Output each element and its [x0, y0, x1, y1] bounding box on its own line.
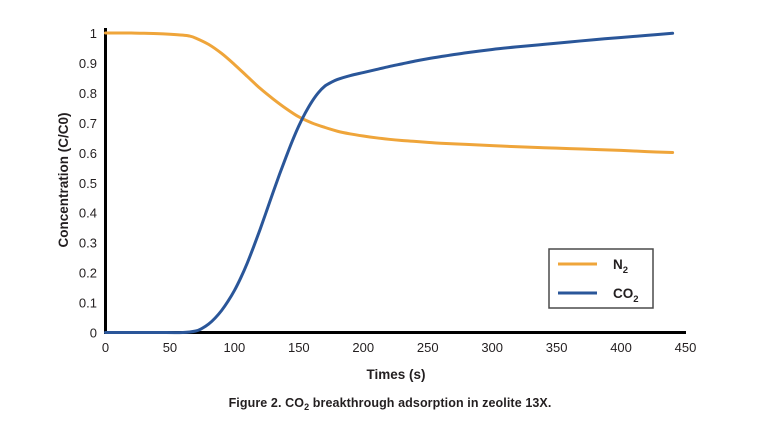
y-tick-label: 0.1	[79, 296, 97, 311]
x-tick-label: 50	[163, 340, 177, 355]
y-tick-label: 0.2	[79, 266, 97, 281]
caption-suffix: breakthrough adsorption in zeolite 13X.	[309, 396, 551, 410]
x-tick-label: 450	[675, 340, 697, 355]
caption-subscript: 2	[304, 402, 309, 412]
chart-legend[interactable]: N2 CO2	[549, 249, 653, 308]
x-tick-label: 0	[102, 340, 109, 355]
caption-prefix: Figure 2. CO	[229, 396, 305, 410]
y-tick-label: 0.7	[79, 116, 97, 131]
y-tick-label: 0.9	[79, 56, 97, 71]
x-tick-label: 250	[417, 340, 439, 355]
y-tick-label: 1	[90, 26, 97, 41]
x-axis-tick-labels: 050100150200250300350400450	[102, 340, 696, 355]
x-tick-label: 150	[288, 340, 310, 355]
figure-caption: Figure 2. CO2 breakthrough adsorption in…	[0, 396, 780, 410]
y-tick-label: 0.3	[79, 236, 97, 251]
y-axis-title: Concentration (C/C0)	[56, 113, 71, 248]
x-axis-title: Times (s)	[366, 367, 425, 382]
figure-container: 00.10.20.30.40.50.60.70.80.91 0501001502…	[0, 0, 780, 437]
y-tick-label: 0.4	[79, 206, 97, 221]
y-tick-label: 0.5	[79, 176, 97, 191]
x-tick-label: 350	[546, 340, 568, 355]
x-tick-label: 100	[224, 340, 246, 355]
chart-canvas: 00.10.20.30.40.50.60.70.80.91 0501001502…	[0, 0, 780, 437]
y-tick-label: 0.8	[79, 86, 97, 101]
y-tick-label: 0	[90, 326, 97, 341]
x-tick-label: 400	[610, 340, 632, 355]
x-tick-label: 300	[481, 340, 503, 355]
line-series-n2	[106, 33, 673, 153]
x-tick-label: 200	[352, 340, 374, 355]
y-axis-tick-labels: 00.10.20.30.40.50.60.70.80.91	[79, 26, 97, 341]
y-tick-label: 0.6	[79, 146, 97, 161]
